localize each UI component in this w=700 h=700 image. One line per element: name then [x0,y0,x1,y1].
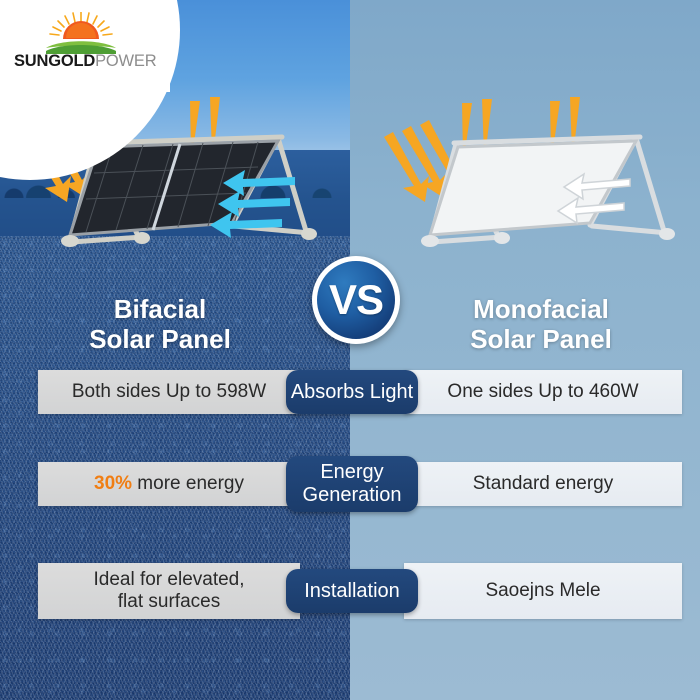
left-value-text: Both sides Up to 598W [72,381,266,403]
row-label-energy-generation: Energy Generation [286,456,418,512]
brand-name-bold: SUNGOLD [14,52,95,70]
row-label-text-line2: Generation [303,484,402,507]
left-title-line2: Solar Panel [20,324,300,354]
infographic-canvas: SUNGOLDPOWER Bifacial Solar Panel Monofa… [0,0,700,700]
right-title-line2: Solar Panel [400,324,682,354]
row-label-absorbs-light: Absorbs Light [286,370,418,414]
left-value-text: more energy [132,473,244,494]
brand-name-light: POWER [95,52,156,70]
right-value-installation: Saoejns Mele [404,563,682,619]
right-value-text: Standard energy [473,473,614,495]
versus-badge: VS [312,256,400,344]
sunrise-icon [44,12,118,54]
left-value-text-line2: flat surfaces [93,591,244,613]
left-value-text-line1: Ideal for elevated, [93,569,244,591]
row-label-text: Installation [304,580,400,603]
versus-label: VS [329,276,383,324]
row-label-installation: Installation [286,569,418,613]
row-label-text-line1: Energy [303,461,402,484]
comparison-row: Ideal for elevated, flat surfaces Instal… [0,563,700,619]
left-value-energy-generation: 30% more energy [38,462,300,506]
right-value-text: One sides Up to 460W [447,381,638,403]
right-title-line1: Monofacial [400,294,682,324]
right-value-absorbs-light: One sides Up to 460W [404,370,682,414]
left-value-highlight: 30% [94,473,132,494]
left-panel-title: Bifacial Solar Panel [20,294,300,354]
monofacial-panel-illustration [372,95,692,285]
comparison-row: 30% more energy Energy Generation Standa… [0,462,700,506]
right-value-energy-generation: Standard energy [404,462,682,506]
brand-logo: SUNGOLDPOWER [14,12,144,78]
left-value-installation: Ideal for elevated, flat surfaces [38,563,300,619]
row-label-text: Absorbs Light [291,381,413,404]
left-title-line1: Bifacial [20,294,300,324]
left-value-absorbs-light: Both sides Up to 598W [38,370,300,414]
brand-wordmark: SUNGOLDPOWER [14,52,144,71]
comparison-row: Both sides Up to 598W Absorbs Light One … [0,370,700,414]
right-value-text: Saoejns Mele [485,580,600,602]
right-panel-title: Monofacial Solar Panel [400,294,682,354]
